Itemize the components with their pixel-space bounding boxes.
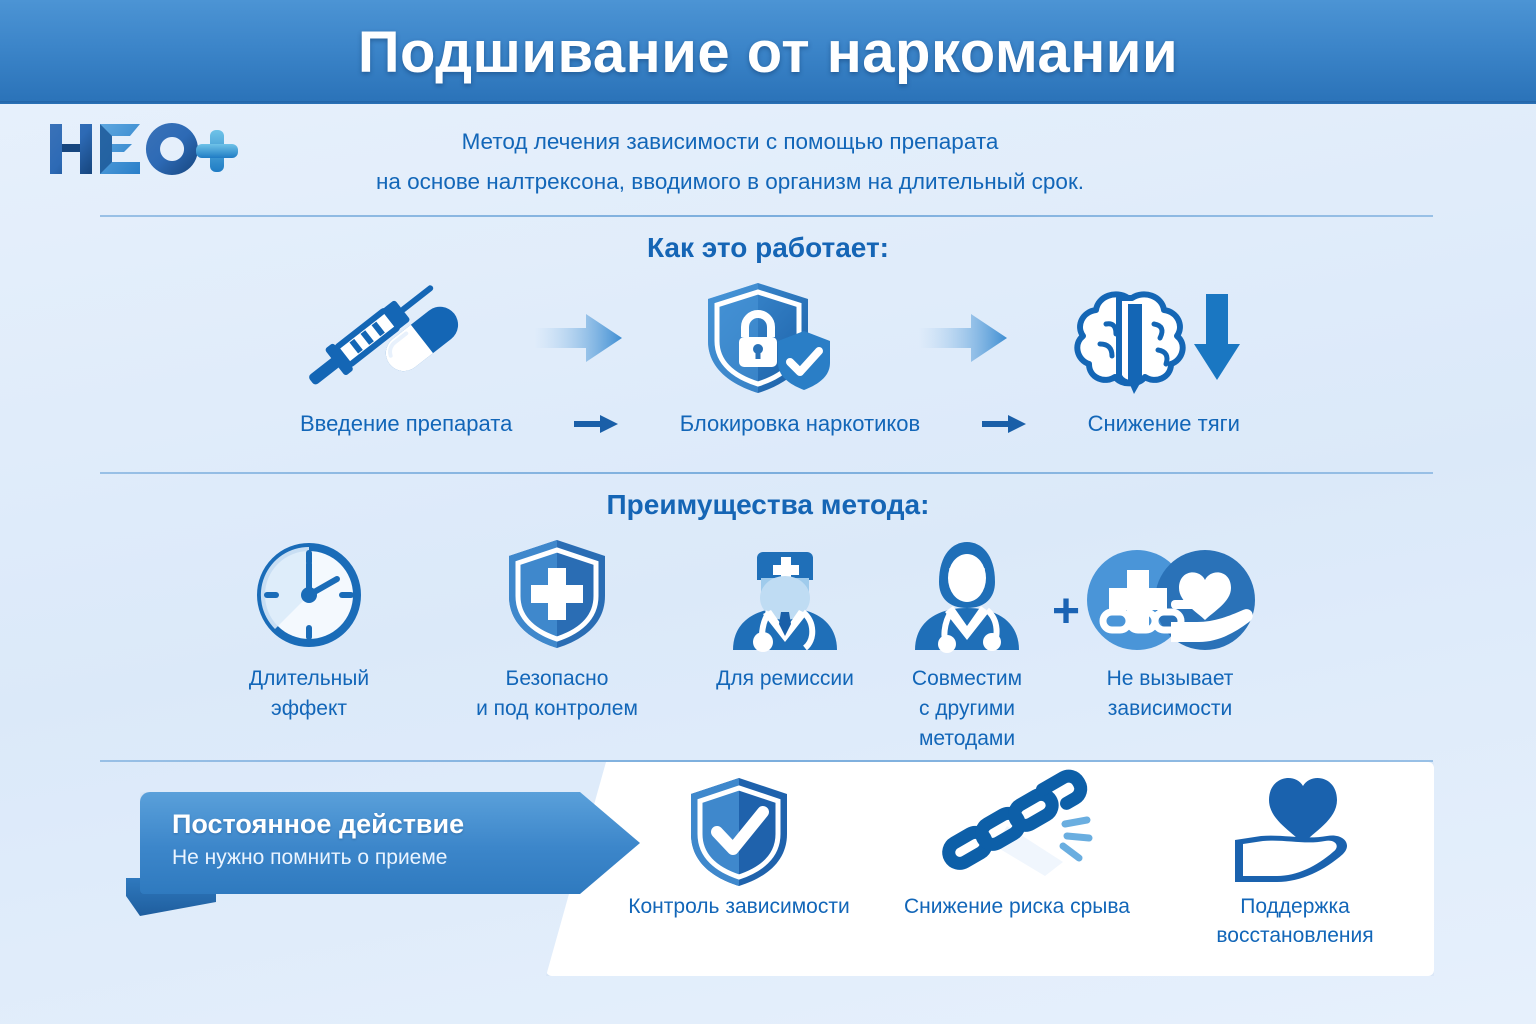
benefit-label-compatible-l2: с другими — [872, 694, 1062, 724]
bottom-panel-items: Контроль зависимости — [600, 762, 1434, 976]
panel-label-relapse: Снижение риска срыва — [892, 892, 1142, 921]
benefit-label-compatible-l3: методами — [872, 724, 1062, 754]
benefit-label-safety-l2: и под контролем — [462, 694, 652, 724]
divider-1 — [100, 215, 1433, 217]
benefit-item-safety: Безопасно и под контролем — [462, 540, 652, 724]
clock-icon — [214, 540, 404, 650]
shield-check-icon — [614, 780, 864, 884]
panel-label-support-l2: восстановления — [1170, 921, 1420, 950]
benefit-item-remission: Для ремиссии — [690, 540, 880, 694]
syringe-pill-icon — [300, 278, 470, 398]
flow-arrow-1 — [533, 308, 623, 368]
how-it-works-labels: Введение препарата Блокировка наркотиков… — [300, 404, 1240, 444]
panel-label-control: Контроль зависимости — [614, 892, 864, 921]
benefit-label-compatible: Совместим с другими методами — [872, 664, 1062, 754]
how-it-works-title: Как это работает: — [0, 232, 1536, 264]
ribbon-title: Постоянное действие — [172, 806, 592, 842]
infographic-page: Подшивание от наркомании — [0, 0, 1536, 1024]
intro-line-2: на основе налтрексона, вводимого в орган… — [280, 162, 1180, 202]
broken-chain-icon — [892, 780, 1142, 884]
flow-label-1: Введение препарата — [300, 411, 512, 437]
flow-label-2: Блокировка наркотиков — [680, 411, 920, 437]
neo-plus-logo — [44, 118, 244, 180]
benefit-item-no-addiction: Не вызывает зависимости — [1075, 540, 1265, 724]
nurse-icon — [872, 540, 1062, 650]
benefit-item-compatible: Совместим с другими методами — [872, 540, 1062, 754]
benefit-label-no-addiction-l1: Не вызывает — [1075, 664, 1265, 694]
shield-lock-icon — [685, 278, 855, 398]
benefit-label-remission: Для ремиссии — [690, 664, 880, 694]
hand-heart-icon — [1170, 780, 1420, 884]
ribbon-subtitle: Не нужно помнить о приеме — [172, 842, 592, 874]
page-title: Подшивание от наркомании — [358, 19, 1178, 86]
benefit-item-duration: Длительный эффект — [214, 540, 404, 724]
panel-item-control: Контроль зависимости — [614, 780, 864, 921]
shield-cross-icon — [462, 540, 652, 650]
flow-arrow-2 — [918, 308, 1008, 368]
benefits-list: Длительный эффект Безопасно и под контро… — [190, 540, 1360, 740]
benefits-title: Преимущества метода: — [0, 489, 1536, 521]
header-banner: Подшивание от наркомании — [0, 0, 1536, 104]
no-addiction-icon — [1075, 540, 1265, 650]
flow-label-arrow-2 — [977, 414, 1031, 434]
flow-label-3: Снижение тяги — [1088, 411, 1240, 437]
doctor-icon — [690, 540, 880, 650]
flow-label-arrow-1 — [569, 414, 623, 434]
panel-item-relapse: Снижение риска срыва — [892, 780, 1142, 921]
brain-down-arrow-icon — [1070, 278, 1240, 398]
divider-2 — [100, 472, 1433, 474]
panel-item-support: Поддержка восстановления — [1170, 780, 1420, 950]
intro-text: Метод лечения зависимости с помощью преп… — [280, 122, 1180, 202]
benefit-label-compatible-l1: Совместим — [872, 664, 1062, 694]
ribbon-text: Постоянное действие Не нужно помнить о п… — [172, 806, 592, 874]
benefit-label-safety-l1: Безопасно — [462, 664, 652, 694]
benefit-label-duration: Длительный эффект — [214, 664, 404, 724]
benefit-label-no-addiction-l2: зависимости — [1075, 694, 1265, 724]
panel-label-support: Поддержка восстановления — [1170, 892, 1420, 950]
benefit-label-no-addiction: Не вызывает зависимости — [1075, 664, 1265, 724]
intro-line-1: Метод лечения зависимости с помощью преп… — [280, 122, 1180, 162]
panel-label-support-l1: Поддержка — [1170, 892, 1420, 921]
how-it-works-flow: Введение препарата Блокировка наркотиков… — [0, 278, 1536, 448]
benefit-label-safety: Безопасно и под контролем — [462, 664, 652, 724]
